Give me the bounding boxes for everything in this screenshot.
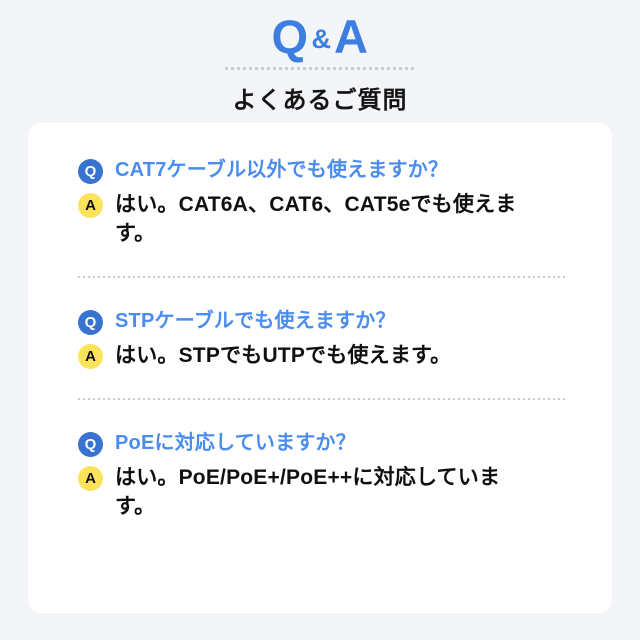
faq-item: Q PoEに対応していますか？ A はい。PoE/PoE+/PoE++に対応して… (28, 400, 612, 522)
faq-list: Q CAT7ケーブル以外でも使えますか？ A はい。CAT6A、CAT6、CAT… (28, 123, 612, 522)
faq-answer-text: はい。STPでもUTPでも使えます。 (115, 342, 451, 371)
faq-answer-row: A はい。STPでもUTPでも使えます。 (78, 342, 568, 371)
faq-page: Q&A よくあるご質問 Q CAT7ケーブル以外でも使えますか？ A はい。CA… (0, 0, 640, 640)
title-ampersand: & (309, 24, 335, 54)
faq-answer-row: A はい。PoE/PoE+/PoE++に対応しています。 (78, 464, 568, 522)
answer-badge-icon: A (78, 193, 103, 218)
faq-item: Q STPケーブルでも使えますか？ A はい。STPでもUTPでも使えます。 (28, 278, 612, 371)
faq-item: Q CAT7ケーブル以外でも使えますか？ A はい。CAT6A、CAT6、CAT… (28, 123, 612, 249)
question-badge-icon: Q (78, 432, 103, 457)
faq-card: Q CAT7ケーブル以外でも使えますか？ A はい。CAT6A、CAT6、CAT… (28, 123, 612, 613)
page-subtitle: よくあるご質問 (0, 80, 640, 115)
faq-answer-text: はい。PoE/PoE+/PoE++に対応しています。 (115, 464, 535, 522)
answer-badge-icon: A (78, 466, 103, 491)
faq-answer-row: A はい。CAT6A、CAT6、CAT5eでも使えます。 (78, 191, 568, 249)
title-letter-q: Q (271, 10, 308, 63)
answer-badge-icon: A (78, 344, 103, 369)
faq-question-row[interactable]: Q PoEに対応していますか？ (78, 430, 568, 457)
faq-question-text: PoEに対応していますか？ (115, 430, 356, 456)
faq-question-text: STPケーブルでも使えますか？ (115, 308, 396, 334)
page-header: Q&A よくあるご質問 (0, 0, 640, 115)
header-dotted-divider (225, 67, 415, 70)
faq-question-text: CAT7ケーブル以外でも使えますか？ (115, 157, 448, 183)
faq-question-row[interactable]: Q STPケーブルでも使えますか？ (78, 308, 568, 335)
title-letter-a: A (334, 10, 368, 63)
faq-answer-text: はい。CAT6A、CAT6、CAT5eでも使えます。 (115, 191, 535, 249)
page-title: Q&A (0, 12, 640, 62)
faq-question-row[interactable]: Q CAT7ケーブル以外でも使えますか？ (78, 157, 568, 184)
question-badge-icon: Q (78, 310, 103, 335)
question-badge-icon: Q (78, 159, 103, 184)
